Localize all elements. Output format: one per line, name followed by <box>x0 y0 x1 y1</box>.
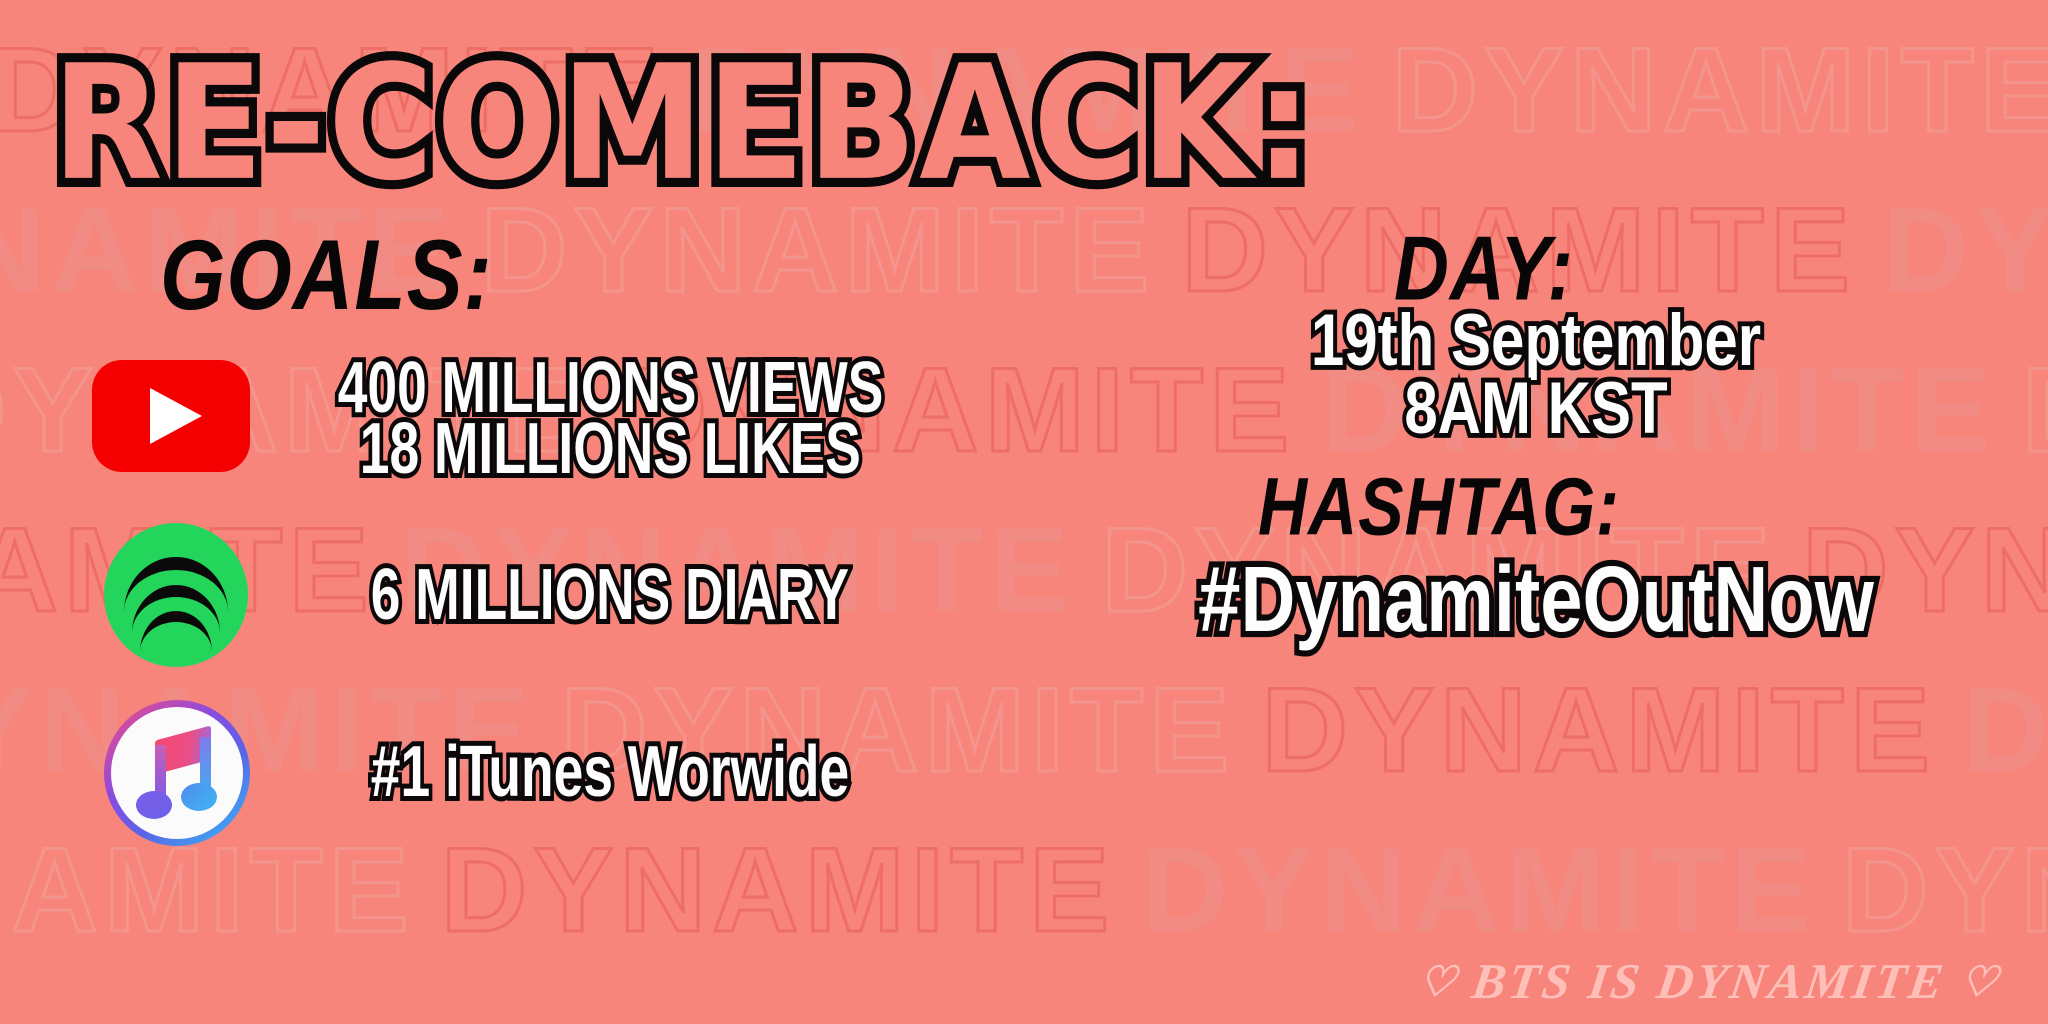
goal-line: #1 iTunes Worwide <box>371 734 849 811</box>
poster-canvas: DYNAMITEDYNAMITEDYNAMITEDYNAMITEDYNAMITE… <box>0 0 2048 1024</box>
goal-text-itunes: #1 iTunes Worwide <box>254 741 966 802</box>
goals-heading: GOALS: <box>160 225 493 324</box>
hashtag-value: #DynamiteOutNow <box>1024 554 2048 647</box>
watermark-word: DYNAMITE <box>1391 30 2048 150</box>
page-title: RE-COMEBACK: <box>52 44 1315 203</box>
goal-text-spotify: 6 MILLIONS DIARY <box>254 564 966 625</box>
watermark-word: DYNAMITE <box>1882 190 2048 310</box>
goal-text-youtube: 400 MILLIONS VIEWS 18 MILLIONS LIKES <box>254 357 966 480</box>
goal-line: 18 MILLIONS LIKES <box>359 410 860 487</box>
goal-row-youtube: 400 MILLIONS VIEWS 18 MILLIONS LIKES <box>86 330 966 506</box>
heart-icon: ♡ <box>1956 960 2003 1006</box>
signature-text: BTS IS DYNAMITE <box>1469 953 1950 1009</box>
signature-credit: ♡BTS IS DYNAMITE♡ <box>1400 952 2018 1010</box>
hashtag-heading: HASHTAG: <box>1258 466 1620 548</box>
watermark-word: DYNAMITE <box>1962 670 2048 790</box>
goals-list: 400 MILLIONS VIEWS 18 MILLIONS LIKES 6 M… <box>86 330 966 860</box>
youtube-icon <box>86 334 254 502</box>
goal-row-spotify: 6 MILLIONS DIARY <box>86 506 966 684</box>
goal-row-itunes: #1 iTunes Worwide <box>86 684 966 860</box>
day-time: 8AM KST <box>1024 372 2048 445</box>
watermark-word: DYNAMITE <box>1261 670 1936 790</box>
watermark-word: DYNAMITE <box>1842 830 2048 950</box>
spotify-icon <box>86 511 254 679</box>
itunes-icon <box>86 688 254 856</box>
watermark-word: DYNAMITE <box>1141 830 1816 950</box>
heart-icon: ♡ <box>1414 960 1461 1006</box>
goal-line: 6 MILLIONS DIARY <box>371 557 849 634</box>
